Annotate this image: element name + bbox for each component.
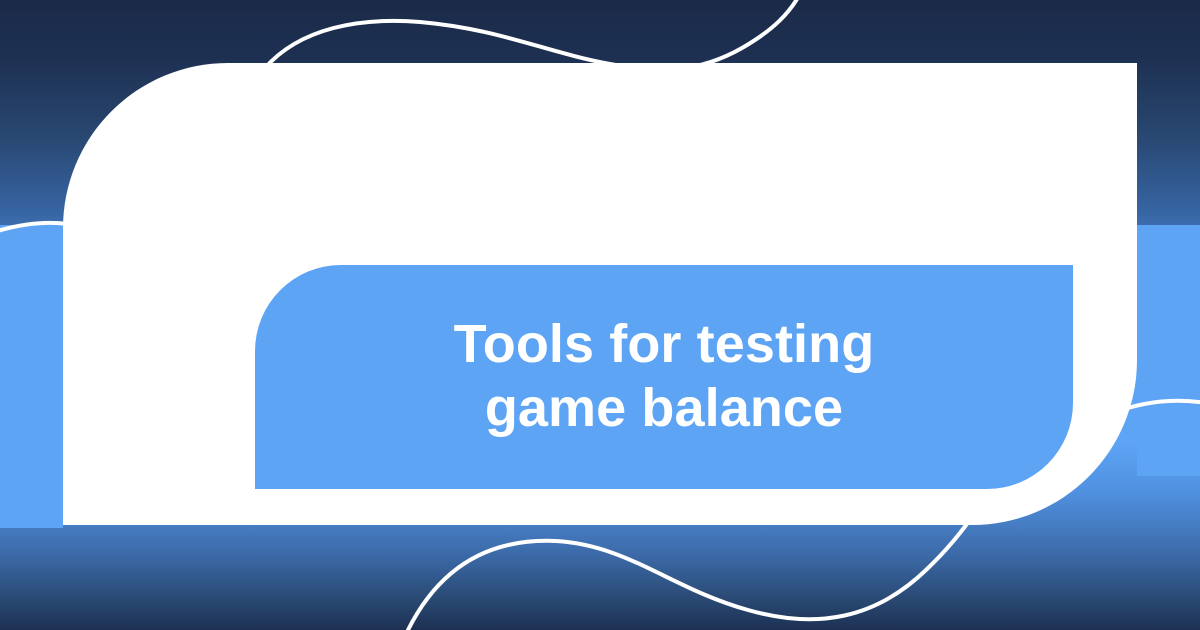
right-accent-block-upper [1137, 225, 1200, 340]
headline-panel: Tools for testing game balance [255, 265, 1073, 489]
left-accent-block-lower [0, 368, 63, 528]
right-accent-block-lower [1137, 368, 1200, 476]
page-title: Tools for testing game balance [454, 313, 875, 440]
left-accent-block-upper [0, 225, 63, 340]
banner-canvas: Tools for testing game balance [0, 0, 1200, 630]
content-card: Tools for testing game balance [63, 63, 1137, 525]
